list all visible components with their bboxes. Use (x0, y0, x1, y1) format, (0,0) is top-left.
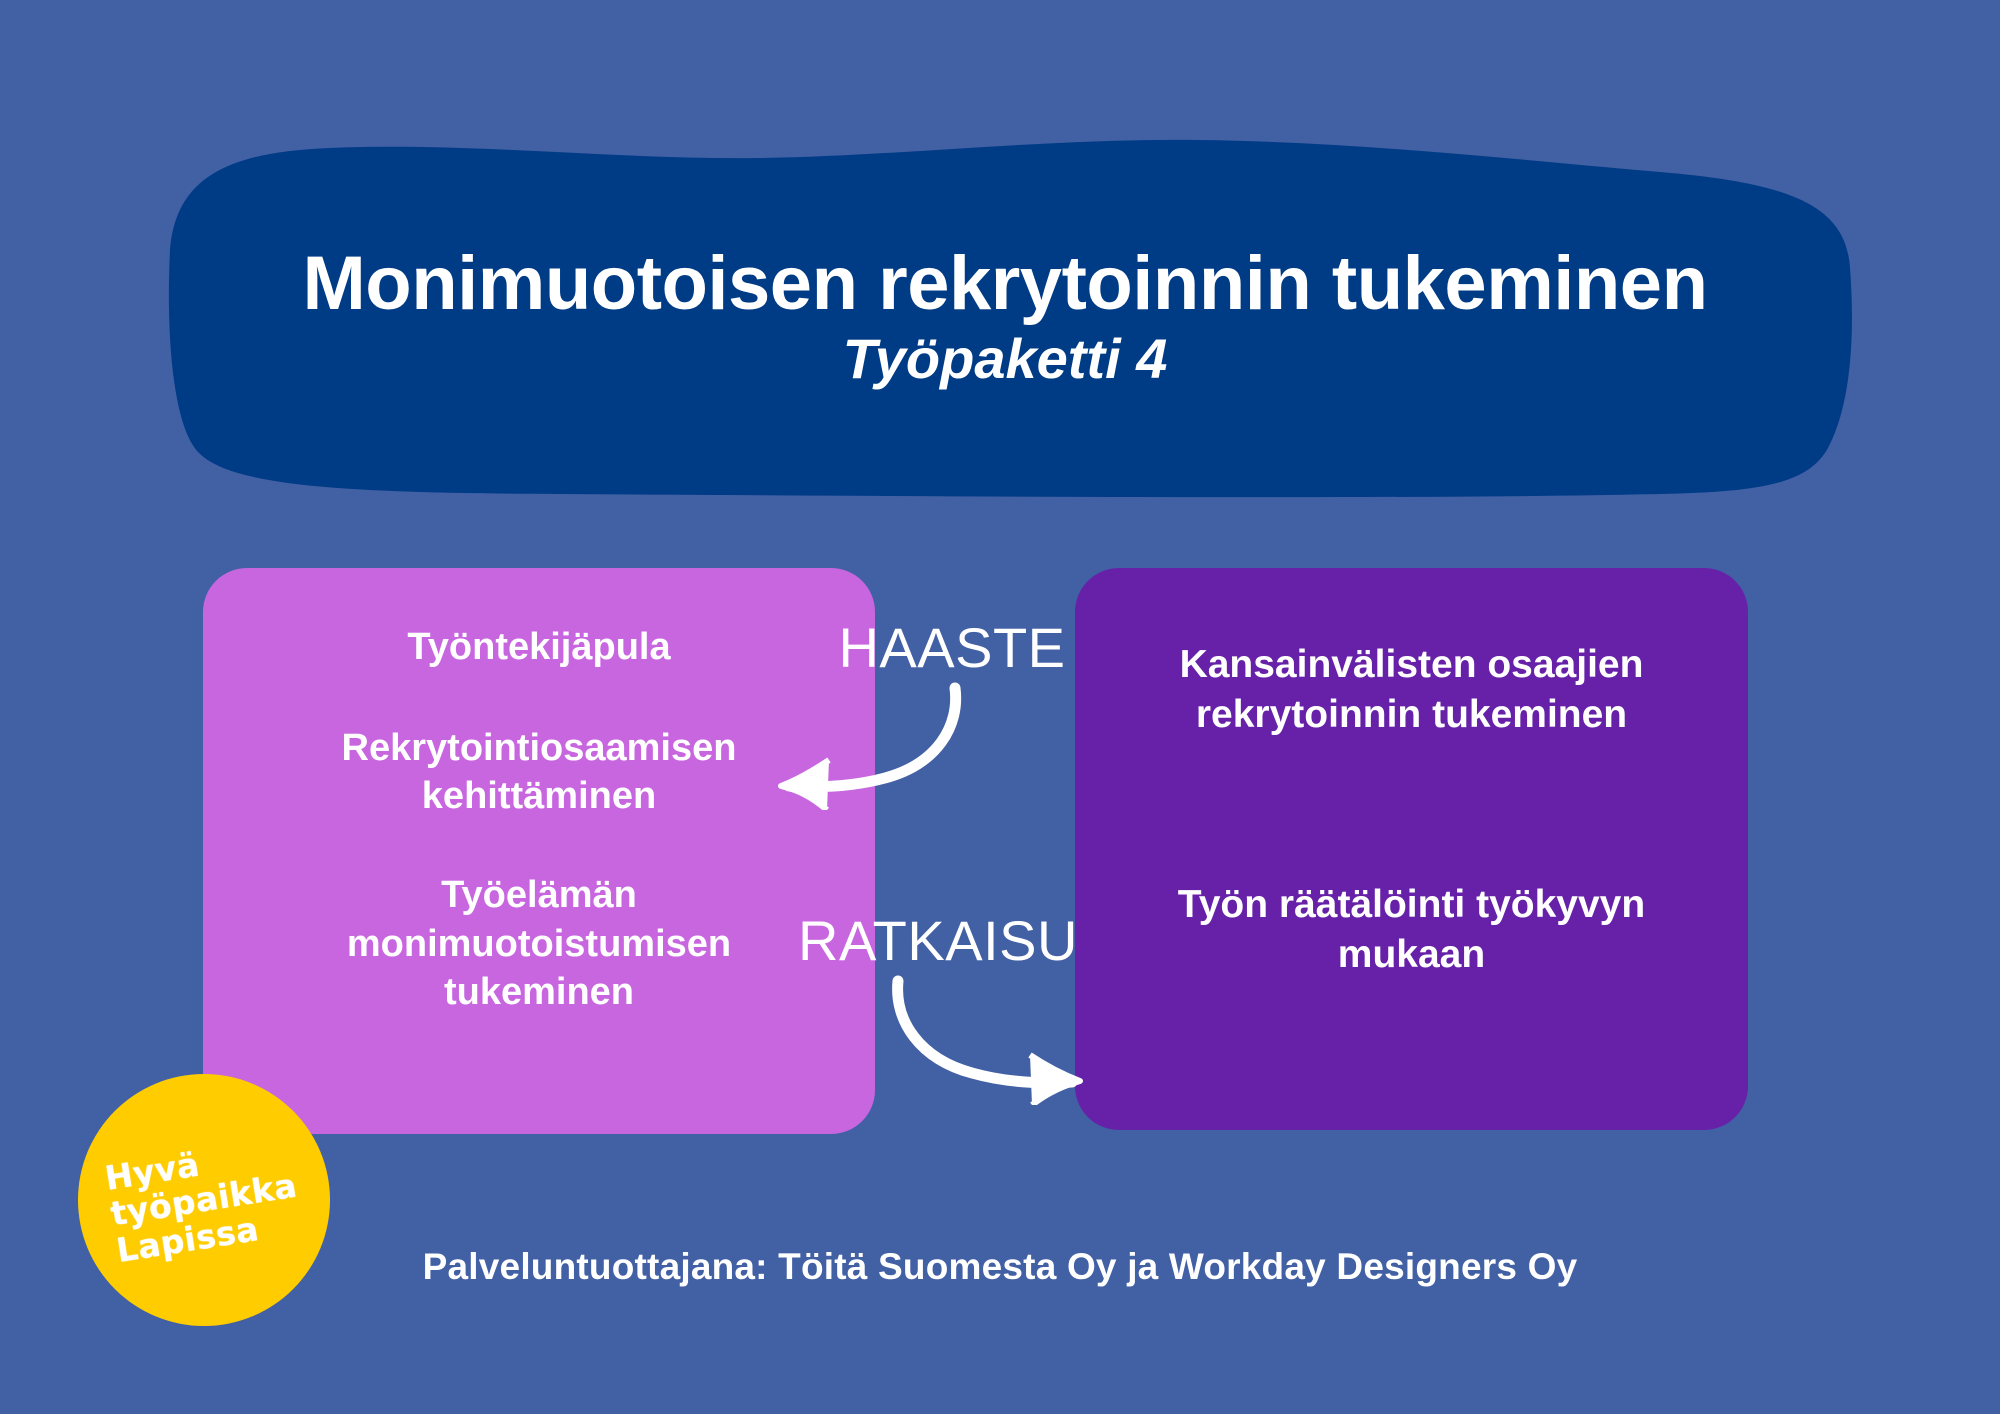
challenge-item-3: Työelämän monimuotoistumisen tukeminen (255, 871, 823, 1017)
header-text-block: Monimuotoisen rekrytoinnin tukeminen Työ… (160, 245, 1850, 391)
footer-note: Palveluntuottajana: Töitä Suomesta Oy ja… (0, 1246, 2000, 1288)
challenge-item-1: Työntekijäpula (407, 623, 670, 672)
challenge-card[interactable]: Työntekijäpula Rekrytointiosaamisen kehi… (203, 568, 875, 1134)
solution-label: RATKAISU (788, 908, 1088, 973)
page-subtitle: Työpaketti 4 (160, 327, 1850, 391)
logo-badge[interactable]: Hyvä työpaikka Lapissa (78, 1074, 330, 1326)
challenge-label: HAASTE (822, 615, 1082, 680)
arrow-right-icon (880, 975, 1130, 1105)
solution-item-2: Työn räätälöinti työkyvyn mukaan (1123, 880, 1700, 980)
arrow-left-icon (755, 680, 1005, 810)
page-title: Monimuotoisen rekrytoinnin tukeminen (160, 245, 1850, 323)
solution-card[interactable]: Kansainvälisten osaajien rekrytoinnin tu… (1075, 568, 1748, 1130)
slide-canvas: Monimuotoisen rekrytoinnin tukeminen Työ… (0, 0, 2000, 1414)
solution-item-1: Kansainvälisten osaajien rekrytoinnin tu… (1123, 640, 1700, 740)
challenge-item-2: Rekrytointiosaamisen kehittäminen (255, 724, 823, 821)
